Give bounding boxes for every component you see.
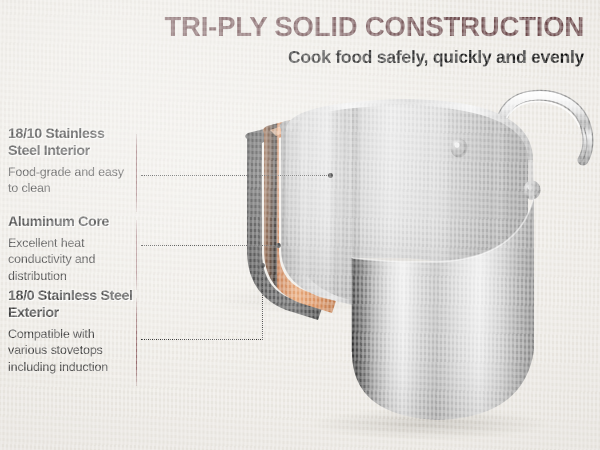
callout-list: 18/10 Stainless Steel Interior Food-grad… — [0, 0, 140, 450]
callout-stainless-steel-exterior: 18/0 Stainless Steel Exterior Compatible… — [8, 288, 134, 375]
callout-divider-2 — [136, 220, 137, 290]
leader-line-exterior — [141, 339, 263, 340]
leader-line-core — [141, 245, 279, 246]
leader-line-exterior-vertical — [262, 266, 263, 340]
leader-dot-core — [276, 243, 281, 248]
callout-heading: 18/10 Stainless Steel Interior — [8, 126, 134, 160]
callout-divider-1 — [136, 134, 137, 212]
callout-heading: 18/0 Stainless Steel Exterior — [8, 288, 134, 322]
leader-dot-interior — [328, 173, 333, 178]
callout-body: Food-grade and easy to clean — [8, 160, 134, 197]
leader-line-interior — [141, 175, 331, 176]
callout-body: Compatible with various stovetops includ… — [8, 322, 134, 376]
callout-stainless-steel-interior: 18/10 Stainless Steel Interior Food-grad… — [8, 126, 134, 197]
callout-divider-3 — [136, 298, 137, 386]
leader-dot-exterior — [260, 263, 265, 268]
callout-heading: Aluminum Core — [8, 214, 134, 231]
pot-outer-lip — [528, 160, 534, 200]
callout-body: Excellent heat conductivity and distribu… — [8, 231, 134, 285]
product-infographic: TRI-PLY SOLID CONSTRUCTION Cook food saf… — [0, 0, 600, 450]
callout-aluminum-core: Aluminum Core Excellent heat conductivit… — [8, 214, 134, 284]
